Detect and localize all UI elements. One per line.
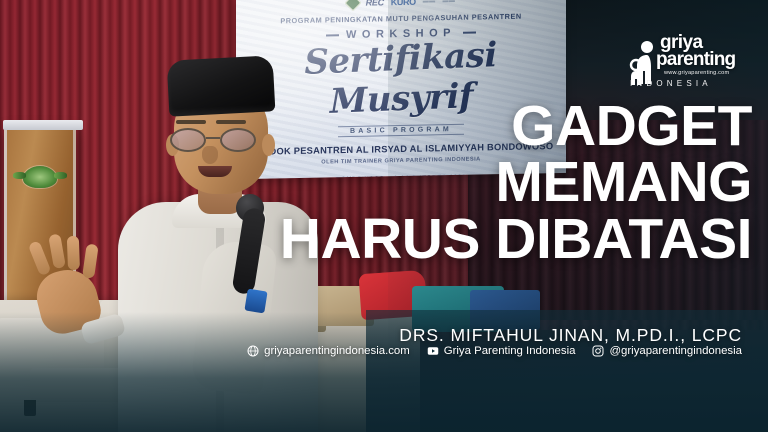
headline-line-1: GADGET <box>12 98 752 154</box>
headline-text: GADGET MEMANG HARUS DIBATASI <box>12 98 752 267</box>
social-youtube[interactable]: Griya Parenting Indonesia <box>427 345 576 357</box>
youtube-icon <box>427 345 439 357</box>
griya-parenting-logo: griya parenting www.griyaparenting.com I… <box>628 34 752 100</box>
instagram-icon <box>592 345 604 357</box>
dash-left-icon <box>326 34 339 36</box>
globe-icon <box>247 345 259 357</box>
social-website[interactable]: griyaparentingindonesia.com <box>247 345 410 357</box>
social-links-row: griyaparentingindonesia.com Griya Parent… <box>247 345 742 357</box>
speaker-name: DRS. MIFTAHUL JINAN, M.PD.I., LCPC <box>399 325 742 346</box>
green-diamond-emblem-icon <box>344 0 361 11</box>
logo-url: www.griyaparenting.com <box>664 70 735 76</box>
headline-line-3: HARUS DIBATASI <box>12 211 752 267</box>
rec-logo-icon: REC <box>366 0 384 8</box>
social-instagram[interactable]: @griyaparentingindonesia <box>592 345 742 357</box>
thumbnail-canvas: REC KURO ▬▬ ▬▬ PROGRAM PENINGKATAN MUTU … <box>0 0 768 432</box>
logo-country: INDONESIA <box>630 79 735 88</box>
logo-line-2: parenting <box>656 51 735 68</box>
logo-wordmark: griya parenting www.griyaparenting.com I… <box>660 34 735 88</box>
headline-line-2: MEMANG <box>12 154 752 210</box>
social-website-label: griyaparentingindonesia.com <box>264 345 410 357</box>
social-youtube-label: Griya Parenting Indonesia <box>444 345 576 357</box>
social-instagram-label: @griyaparentingindonesia <box>609 345 742 357</box>
microphone-transmitter <box>244 289 267 314</box>
